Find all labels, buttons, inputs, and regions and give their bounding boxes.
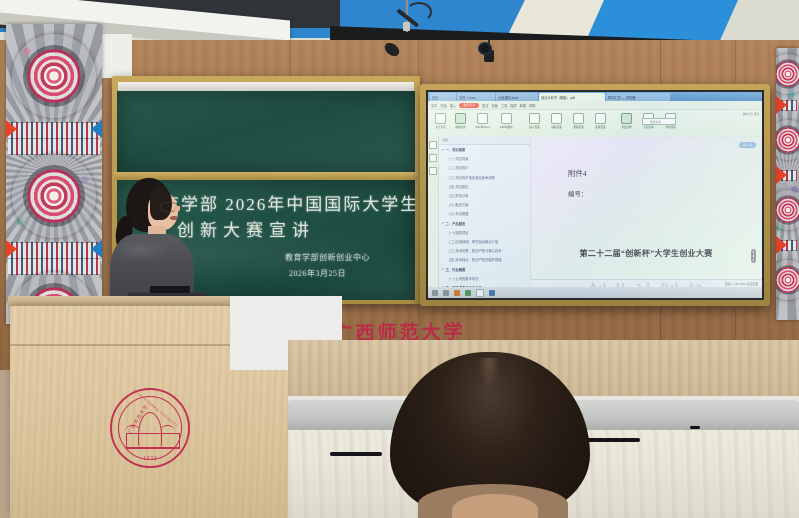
file-explorer-icon[interactable] <box>454 290 460 296</box>
sidebar-tool-rail[interactable] <box>428 136 439 298</box>
blackboard-upper-panel <box>117 91 415 172</box>
emblem-building-base <box>126 433 180 449</box>
outline-item[interactable]: (四) 项目团队 <box>439 182 530 191</box>
university-emblem: 广西师范大学 GUANGXI NORMAL UNIVERSITY 1932 <box>110 388 190 468</box>
pdf-reader-icon[interactable] <box>476 289 484 297</box>
outline-item[interactable]: (四) 技术特点、知识产权的保护措施 <box>439 255 530 264</box>
outline-item[interactable]: ▾三、行业概要 <box>439 264 530 273</box>
chalk-text-line-2: 创新大赛宣讲 <box>177 216 315 241</box>
presenter-nose <box>174 206 180 212</box>
audience-hair-part <box>478 358 500 392</box>
presenter-mouth <box>170 216 178 220</box>
podium-device <box>150 286 190 293</box>
app-tab[interactable]: 附件汇总 — 浏览器 <box>606 93 670 101</box>
outline-item[interactable]: (五) 财务分析 <box>439 191 530 200</box>
menu-item-file[interactable]: 文件 <box>431 103 437 108</box>
pdf-to-image-icon <box>501 113 512 124</box>
audience-member <box>390 352 590 518</box>
start-button-icon[interactable] <box>432 290 438 296</box>
doc-number-label: 编号： <box>568 188 588 198</box>
desk-cable-slot <box>690 426 700 429</box>
doc-attachment-label: 附件4 <box>568 168 587 179</box>
windows-taskbar[interactable] <box>428 287 762 298</box>
page-scroll-handle[interactable] <box>751 249 756 263</box>
outline-item[interactable]: (七) 本页概要 <box>439 209 530 218</box>
app-tab-active[interactable]: 创业计划书（模板）.pdf <box>539 93 605 101</box>
document-outline-sidebar[interactable]: 书签 ▾一、项目概要 (一) 项目背景 (二) 项目简介 (三) 项目的市场前景… <box>439 136 531 298</box>
app-tab[interactable]: 文档 1.docx <box>457 93 495 101</box>
menu-item-comment[interactable]: 批注 <box>482 103 488 108</box>
menu-item-tools[interactable]: 工具 <box>501 103 507 108</box>
delete-page-icon <box>573 113 584 124</box>
ocr-icon <box>435 113 446 124</box>
document-page[interactable]: 第 1 页 附件4 编号： 第二十二届“创新杯”大学生创业大赛 创业计划书 <box>530 136 762 287</box>
ribbon-button[interactable]: 删除页面 <box>570 113 587 129</box>
sidebar-header: 书签 <box>439 136 530 145</box>
bookmark-panel-icon[interactable] <box>429 154 437 162</box>
annotation-panel-icon[interactable] <box>429 167 437 175</box>
ribbon-button[interactable]: 插入页面 <box>526 113 543 129</box>
menu-item-help[interactable]: 帮助 <box>529 103 535 108</box>
insert-page-icon <box>529 113 540 124</box>
menu-item-protect[interactable]: 保护 <box>510 103 516 108</box>
classroom-scene: 教育学部 2026年中国国际大学生 创新大赛宣讲 教育学部创新创业中心 2026… <box>0 0 799 518</box>
search-icon[interactable] <box>443 290 449 296</box>
menu-item-page[interactable]: 页面 <box>492 103 498 108</box>
outline-item[interactable]: (三) 项目的市场前景及竞争优势 <box>439 173 530 182</box>
projected-screen[interactable]: 首页 文档 1.docx 大赛通知.docx 创业计划书（模板）.pdf 附件汇… <box>428 92 762 298</box>
outline-item[interactable]: (二) 项目简介 <box>439 163 530 172</box>
microphone-mount <box>403 22 410 31</box>
chalk-signature: 教育学部创新创业中心 <box>285 252 370 263</box>
decorative-brocade-panel-right <box>776 48 799 320</box>
page-badge: 第 1 页 <box>739 142 756 148</box>
status-bar: 页面 1 / 28 100% 适应页面 <box>530 279 762 287</box>
rotate-page-icon <box>595 113 606 124</box>
membership-badge[interactable]: 会员专享 <box>459 103 479 108</box>
extract-page-icon <box>551 113 562 124</box>
outline-item[interactable]: (一) 公司的基本情况 <box>439 274 530 283</box>
wps-writer-icon[interactable] <box>465 290 471 296</box>
browser-icon[interactable] <box>489 290 495 296</box>
ribbon-search-input[interactable]: 搜索命令 <box>642 118 676 125</box>
outline-item[interactable]: (六) 融资方案 <box>439 200 530 209</box>
pdf-to-word-icon <box>477 113 488 124</box>
ribbon-button[interactable]: 文字识别 <box>432 113 449 129</box>
thumbnail-panel-icon[interactable] <box>429 141 437 149</box>
menu-item-convert[interactable]: 转换 <box>520 103 526 108</box>
ribbon-button[interactable]: 编辑内容 <box>452 113 469 129</box>
outline-item[interactable]: (一) 项目背景 <box>439 154 530 163</box>
menu-item-home[interactable]: 开始 <box>440 103 446 108</box>
decorative-brocade-panel-left <box>6 24 102 324</box>
ribbon-account-area[interactable]: 协作共享 登录 <box>743 112 759 116</box>
ribbon-button[interactable]: PDF转图片 <box>498 113 515 129</box>
blackboard-top-rail <box>118 82 414 91</box>
ribbon-button[interactable]: 提取页面 <box>548 113 565 129</box>
doc-subtitle: 第二十二届“创新杯”大学生创业大赛 <box>530 248 762 259</box>
edit-content-icon <box>455 113 466 124</box>
audience-neck <box>452 494 538 518</box>
camera-lens <box>478 42 492 55</box>
desk-cable-slot <box>330 452 382 456</box>
wall-fixture <box>100 34 132 78</box>
presenter-shoulder-highlight <box>120 242 170 262</box>
add-annotation-icon <box>621 113 632 124</box>
app-tab[interactable]: 首页 <box>430 93 456 101</box>
outline-item[interactable]: ▾一、项目概要 <box>439 145 530 154</box>
emblem-founding-year: 1932 <box>112 456 188 462</box>
ribbon-button[interactable]: 旋转页面 <box>592 113 609 129</box>
menu-bar[interactable]: 文件 开始 插入 会员专享 批注 页面 工具 保护 转换 帮助 <box>428 101 762 110</box>
outline-item[interactable]: (一) 服务项目 <box>439 228 530 237</box>
outline-item[interactable]: (三) 技术优势、知识产权与核心技术 <box>439 246 530 255</box>
ribbon-button[interactable]: 添加注释 <box>618 113 635 129</box>
outline-item[interactable]: ▾二、产品服务 <box>439 219 530 228</box>
app-tab[interactable]: 大赛通知.docx <box>496 93 538 101</box>
ribbon-button[interactable]: PDF转Word <box>474 113 491 129</box>
app-tab-strip[interactable]: 首页 文档 1.docx 大赛通知.docx 创业计划书（模板）.pdf 附件汇… <box>428 92 762 101</box>
menu-item-insert[interactable]: 插入 <box>450 103 456 108</box>
ribbon-toolbar[interactable]: 文字识别 编辑内容 PDF转Word PDF转图片 插入页面 提取页面 删除页面 <box>428 110 762 137</box>
chalk-date: 2026年3月25日 <box>289 268 346 279</box>
outline-item[interactable]: (二) 应用领域、研究及创新点介绍 <box>439 237 530 246</box>
